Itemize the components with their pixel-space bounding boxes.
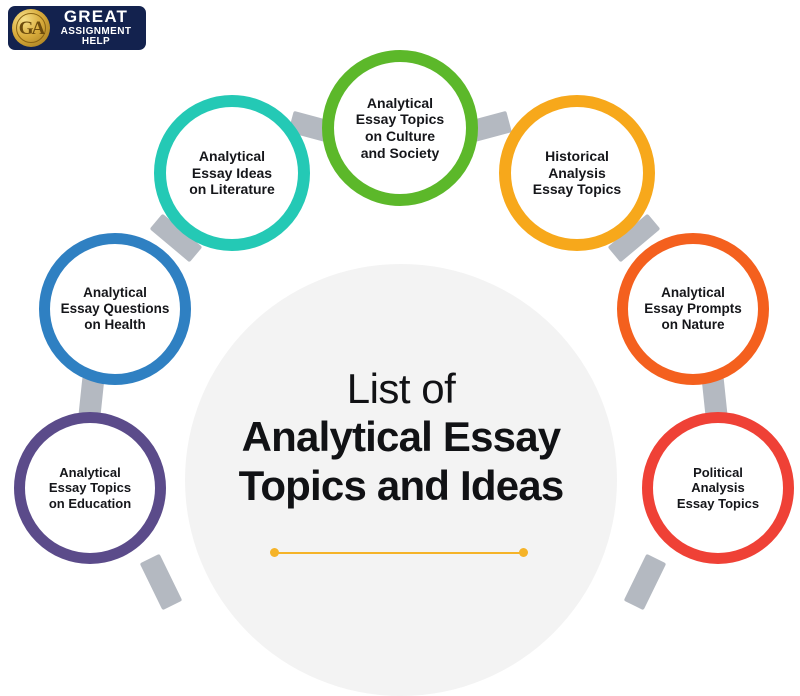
logo-line-1: GREAT: [50, 8, 142, 26]
node-label-literature: Analytical Essay Ideas on Literature: [183, 148, 281, 198]
node-label-culture-society: Analytical Essay Topics on Culture and S…: [350, 95, 450, 161]
node-circle-political[interactable]: Political Analysis Essay Topics: [642, 412, 794, 564]
title-prefix: List of: [200, 366, 602, 411]
logo-line-2: ASSIGNMENT HELP: [50, 27, 142, 48]
logo-text-block: GREAT ASSIGNMENT HELP: [50, 8, 146, 48]
infographic-canvas: Analytical Essay Topics on Culture and S…: [0, 0, 800, 601]
connector-education-tail: [140, 554, 183, 610]
connector-political-tail: [624, 554, 667, 610]
logo-emblem-icon: GA: [12, 9, 50, 47]
node-label-political: Political Analysis Essay Topics: [671, 465, 765, 511]
node-circle-historical[interactable]: Historical Analysis Essay Topics: [499, 95, 655, 251]
node-circle-health[interactable]: Analytical Essay Questions on Health: [39, 233, 191, 385]
title-main-line-2: Topics and Ideas: [200, 462, 602, 509]
node-label-historical: Historical Analysis Essay Topics: [527, 148, 627, 198]
node-circle-culture-society[interactable]: Analytical Essay Topics on Culture and S…: [322, 50, 478, 206]
node-label-health: Analytical Essay Questions on Health: [55, 285, 176, 333]
node-circle-education[interactable]: Analytical Essay Topics on Education: [14, 412, 166, 564]
node-circle-literature[interactable]: Analytical Essay Ideas on Literature: [154, 95, 310, 251]
logo-monogram: GA: [19, 19, 44, 38]
brand-logo[interactable]: GA GREAT ASSIGNMENT HELP: [8, 6, 146, 50]
divider-dot-right: [519, 548, 528, 557]
node-label-nature: Analytical Essay Prompts on Nature: [638, 285, 748, 333]
title-divider: [270, 548, 528, 557]
title-main-line-1: Analytical Essay: [200, 413, 602, 460]
node-label-education: Analytical Essay Topics on Education: [43, 465, 137, 511]
divider-line: [274, 552, 524, 554]
center-title-block: List of Analytical Essay Topics and Idea…: [200, 366, 602, 509]
node-circle-nature[interactable]: Analytical Essay Prompts on Nature: [617, 233, 769, 385]
